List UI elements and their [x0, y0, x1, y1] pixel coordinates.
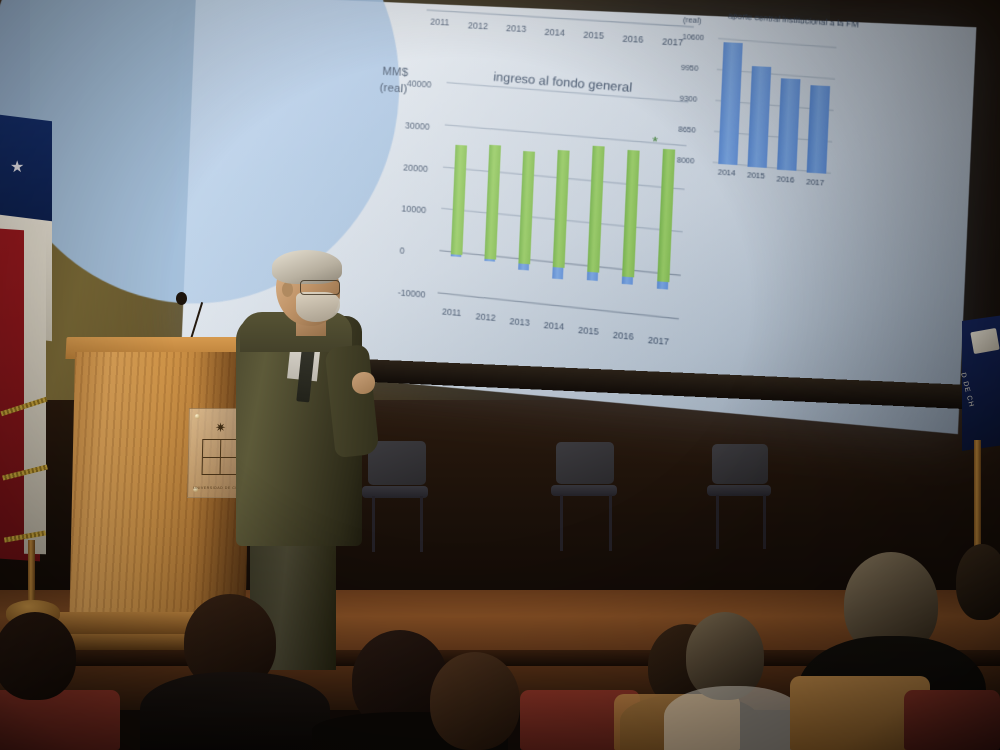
- right-chart-ytick: 9950: [681, 65, 699, 73]
- main-chart-ytick: -10000: [398, 287, 426, 299]
- chart-bar: [484, 145, 501, 260]
- chart-bar: [587, 146, 604, 273]
- gridline: [438, 292, 679, 319]
- speaker-ear: [282, 282, 293, 297]
- microphone-icon: [176, 292, 187, 305]
- main-chart-ytick: 10000: [401, 204, 426, 216]
- chart-bar: [586, 272, 597, 281]
- main-chart-xtick: 2011: [442, 306, 462, 318]
- right-chart-ytick: 10600: [682, 34, 704, 42]
- main-chart-annotation-star: *: [652, 134, 658, 148]
- chart-bar: [450, 254, 461, 257]
- main-chart-ytick: 40000: [407, 78, 432, 90]
- main-chart-xtick: 2014: [543, 320, 564, 332]
- chart-bar: [621, 276, 632, 285]
- chart-bar: [747, 66, 771, 168]
- right-chart-xtick: 2015: [747, 173, 765, 182]
- chart-bar: [450, 145, 466, 255]
- chart-bar: [718, 42, 743, 165]
- top-chart-xtick: 2014: [544, 26, 565, 37]
- axis-label-currency-sub: (real): [379, 82, 407, 96]
- main-chart-xtick: 2012: [475, 311, 495, 323]
- right-chart-ytick: 9300: [679, 96, 697, 104]
- main-chart-xtick: 2017: [648, 334, 669, 346]
- main-chart-xtick: 2015: [578, 325, 599, 337]
- speaker-hair: [272, 250, 342, 284]
- right-chart-ytick: 8000: [677, 157, 695, 165]
- chart-bar: [484, 259, 495, 262]
- top-chart-xtick: 2016: [622, 33, 643, 45]
- chart-bar: [518, 263, 529, 270]
- top-chart-xtick: 2015: [583, 29, 604, 40]
- speaker-hand: [352, 372, 375, 394]
- right-chart-unit-label: (real): [683, 17, 702, 25]
- axis-label-currency: MM$: [382, 66, 408, 80]
- chart-bar: [552, 267, 563, 278]
- right-chart-xtick: 2016: [776, 176, 794, 185]
- top-chart-xtick: 2011: [430, 16, 450, 27]
- gridline: [445, 124, 687, 146]
- chart-bar: [656, 281, 667, 290]
- top-chart-xtick: 2012: [468, 20, 488, 31]
- chart-bar: [776, 78, 799, 170]
- main-chart-ytick: 20000: [403, 162, 428, 174]
- chart-bar: [552, 150, 569, 268]
- right-chart-ytick: 8650: [678, 126, 696, 134]
- main-chart-ytick: 30000: [405, 120, 430, 132]
- chart-bar: [657, 149, 675, 282]
- top-chart-xtick: 2013: [506, 23, 527, 34]
- speaker-glasses: [300, 280, 340, 295]
- main-chart-xtick: 2016: [613, 329, 634, 341]
- university-star-icon: ✷: [215, 421, 226, 434]
- top-chart-xtick: 2017: [662, 36, 683, 48]
- presentation-photo: 2011201220132014201520162017 MM$ (real) …: [0, 0, 1000, 750]
- right-chart-xtick: 2017: [806, 179, 824, 188]
- main-chart-xtick: 2013: [509, 315, 530, 327]
- chart-bar: [806, 86, 829, 174]
- university-shield-icon: [202, 439, 239, 475]
- chart-bar: [621, 150, 639, 278]
- chart-bar: [518, 151, 535, 264]
- right-chart-xtick: 2014: [718, 169, 736, 178]
- main-chart-ytick: 0: [399, 245, 404, 256]
